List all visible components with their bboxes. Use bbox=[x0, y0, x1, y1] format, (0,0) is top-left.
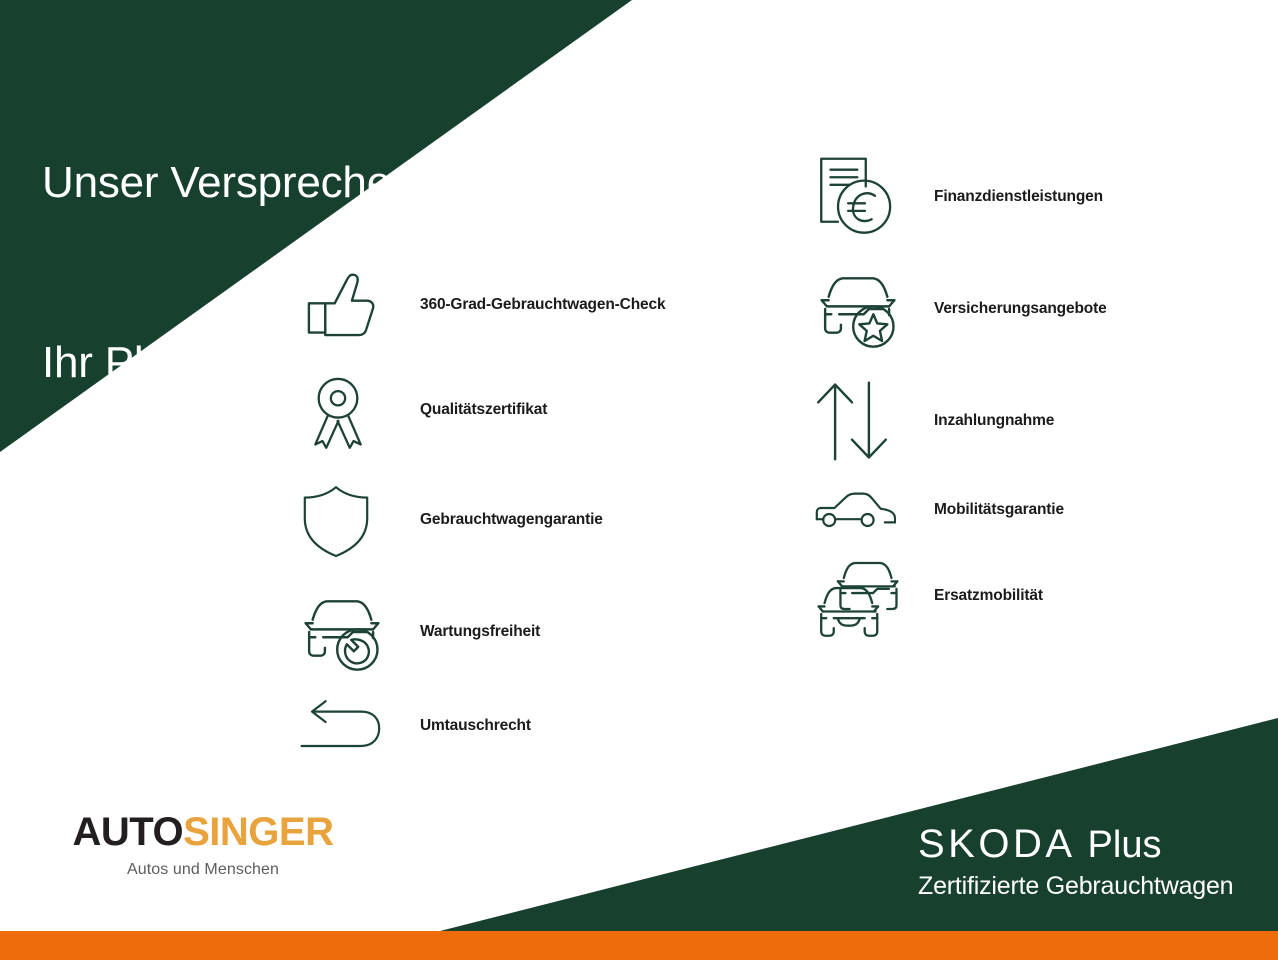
car-star-icon bbox=[812, 264, 904, 354]
feature-label: 360-Grad-Gebrauchtwagen-Check bbox=[420, 296, 665, 314]
orange-bottom-bar bbox=[0, 931, 1278, 960]
dealer-logo-singer: SINGER bbox=[183, 810, 333, 854]
feature-label: Ersatzmobilität bbox=[934, 587, 1043, 605]
thumbs-up-icon bbox=[296, 262, 382, 348]
promo-banner: Unser Versprechen. Ihr Plus. 360-Grad-Ge… bbox=[0, 0, 1278, 960]
headline-line-1: Unser Versprechen. bbox=[42, 153, 427, 213]
award-ribbon-icon bbox=[296, 368, 380, 452]
u-turn-arrow-icon bbox=[296, 696, 384, 756]
two-cars-icon bbox=[812, 552, 904, 640]
feature-label: Versicherungsangebote bbox=[934, 300, 1107, 318]
feature-label: Finanzdienstleistungen bbox=[934, 188, 1103, 206]
car-side-icon bbox=[812, 487, 896, 533]
dealer-logo-auto: AUTO bbox=[73, 810, 184, 854]
dealer-logo-wordmark: AUTOSINGER bbox=[58, 812, 348, 852]
feature-label: Gebrauchtwagengarantie bbox=[420, 511, 603, 529]
feature-label: Qualitätszertifikat bbox=[420, 401, 547, 419]
brand-logo-subtitle: Zertifizierte Gebrauchtwagen bbox=[918, 872, 1233, 901]
car-wrench-icon bbox=[296, 587, 388, 677]
brand-logo-plus: Plus bbox=[1088, 826, 1162, 864]
shield-icon bbox=[296, 477, 376, 563]
up-down-arrows-icon bbox=[812, 376, 892, 466]
dealer-logo: AUTOSINGER Autos und Menschen bbox=[58, 812, 348, 879]
brand-logo-line: SKODA Plus bbox=[918, 824, 1233, 864]
dealer-logo-tagline: Autos und Menschen bbox=[58, 861, 348, 879]
feature-label: Inzahlungnahme bbox=[934, 412, 1054, 430]
brand-logo: SKODA Plus Zertifizierte Gebrauchtwagen bbox=[918, 824, 1233, 901]
feature-label: Wartungsfreiheit bbox=[420, 623, 540, 641]
document-euro-icon bbox=[812, 152, 896, 242]
feature-label: Umtauschrecht bbox=[420, 717, 531, 735]
feature-label: Mobilitätsgarantie bbox=[934, 501, 1064, 519]
brand-logo-skoda: SKODA bbox=[918, 824, 1076, 864]
